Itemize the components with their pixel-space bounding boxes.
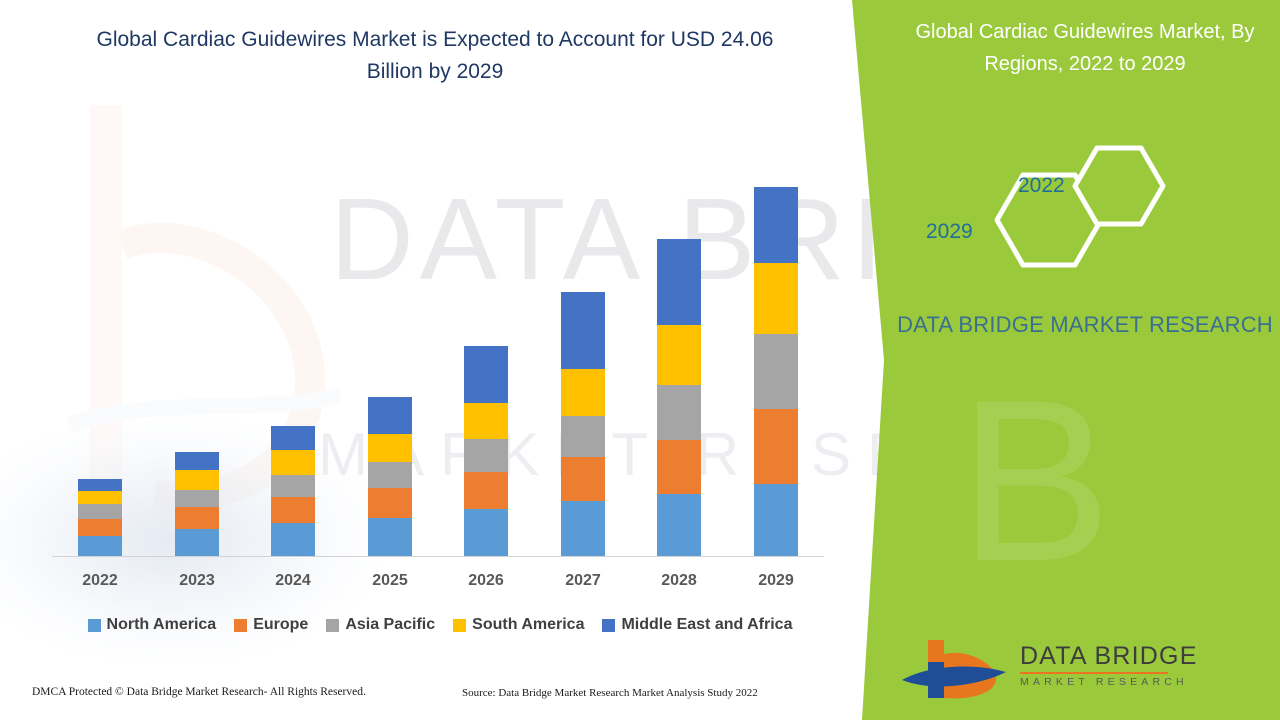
x-axis-label-2027: 2027 [548, 572, 618, 590]
chart-legend: North AmericaEuropeAsia PacificSouth Ame… [52, 616, 828, 634]
bar-segment [561, 369, 605, 416]
bar-segment [175, 507, 219, 529]
bar-segment [271, 426, 315, 450]
bar-segment [368, 518, 412, 556]
bar-segment [368, 397, 412, 434]
bar-segment [464, 346, 508, 403]
bar-segment [561, 457, 605, 501]
bar-2022 [78, 479, 122, 556]
bar-segment [175, 452, 219, 470]
x-axis-labels: 20222023202420252026202720282029 [52, 572, 824, 598]
bar-segment [561, 501, 605, 556]
bar-2027 [561, 292, 605, 556]
bar-segment [271, 475, 315, 497]
legend-label: South America [472, 616, 584, 634]
bar-segment [464, 403, 508, 439]
bar-segment [754, 484, 798, 556]
x-axis-label-2025: 2025 [355, 572, 425, 590]
hexagon-2022 [1075, 148, 1163, 224]
infographic-root: DATA BRIDGE MARKET RESEARCH Global Cardi… [0, 0, 1280, 720]
brand-panel-title: Global Cardiac Guidewires Market, By Reg… [890, 16, 1280, 80]
legend-item[interactable]: South America [453, 616, 584, 634]
x-axis-label-2028: 2028 [644, 572, 714, 590]
bar-segment [78, 491, 122, 504]
bar-segment [175, 529, 219, 556]
logo-divider [1020, 672, 1168, 674]
brand-panel-content: Global Cardiac Guidewires Market, By Reg… [890, 0, 1280, 720]
legend-item[interactable]: North America [88, 616, 217, 634]
x-axis-label-2026: 2026 [451, 572, 521, 590]
data-bridge-logo: DATA BRIDGE MARKET RESEARCH [890, 636, 1230, 702]
legend-swatch-icon [88, 619, 101, 632]
bar-2029 [754, 187, 798, 556]
copyright-notice: DMCA Protected © Data Bridge Market Rese… [32, 686, 366, 698]
bar-segment [78, 519, 122, 536]
bar-segment [271, 523, 315, 556]
bar-segment [561, 292, 605, 369]
bar-segment [368, 462, 412, 488]
plot-area [52, 120, 824, 556]
bar-segment [657, 494, 701, 556]
legend-swatch-icon [234, 619, 247, 632]
bar-segment [464, 472, 508, 509]
legend-item[interactable]: Middle East and Africa [602, 616, 792, 634]
bar-segment [464, 509, 508, 556]
logo-mark-icon [898, 636, 1018, 702]
legend-item[interactable]: Asia Pacific [326, 616, 435, 634]
legend-label: Asia Pacific [345, 616, 435, 634]
logo-title: DATA BRIDGE [1020, 642, 1198, 671]
hexagon-2022-label: 2022 [1018, 174, 1065, 198]
bar-segment [78, 479, 122, 491]
bar-segment [657, 325, 701, 385]
bar-segment [78, 504, 122, 519]
bar-segment [368, 488, 412, 518]
x-axis-label-2022: 2022 [65, 572, 135, 590]
bar-segment [657, 440, 701, 494]
bar-segment [754, 334, 798, 409]
bar-segment [754, 187, 798, 263]
bar-segment [464, 439, 508, 472]
hexagon-group [975, 140, 1205, 285]
legend-swatch-icon [602, 619, 615, 632]
bar-segment [78, 536, 122, 556]
bar-segment [657, 385, 701, 440]
x-axis-label-2024: 2024 [258, 572, 328, 590]
legend-label: Europe [253, 616, 308, 634]
bar-segment [657, 239, 701, 325]
bar-segment [175, 490, 219, 507]
legend-label: Middle East and Africa [621, 616, 792, 634]
bar-2023 [175, 452, 219, 556]
hexagon-2029-label: 2029 [926, 220, 973, 244]
bar-2026 [464, 346, 508, 556]
bar-2028 [657, 239, 701, 556]
x-axis-label-2023: 2023 [162, 572, 232, 590]
bar-segment [175, 470, 219, 490]
logo-subtitle: MARKET RESEARCH [1020, 676, 1188, 688]
x-axis-line [52, 556, 824, 557]
brand-name: DATA BRIDGE MARKET RESEARCH [890, 308, 1280, 341]
bar-segment [754, 263, 798, 334]
hexagons-icon [975, 140, 1205, 285]
chart-title: Global Cardiac Guidewires Market is Expe… [70, 24, 800, 88]
x-axis-label-2029: 2029 [741, 572, 811, 590]
source-note: Source: Data Bridge Market Research Mark… [462, 687, 758, 699]
bar-segment [561, 416, 605, 457]
bar-segment [368, 434, 412, 462]
bar-segment [754, 409, 798, 484]
legend-swatch-icon [453, 619, 466, 632]
bar-segment [271, 450, 315, 475]
legend-item[interactable]: Europe [234, 616, 308, 634]
legend-label: North America [107, 616, 217, 634]
bar-segment [271, 497, 315, 523]
legend-swatch-icon [326, 619, 339, 632]
bar-2025 [368, 397, 412, 556]
chart-panel: DATA BRIDGE MARKET RESEARCH Global Cardi… [0, 0, 900, 720]
bar-2024 [271, 426, 315, 556]
